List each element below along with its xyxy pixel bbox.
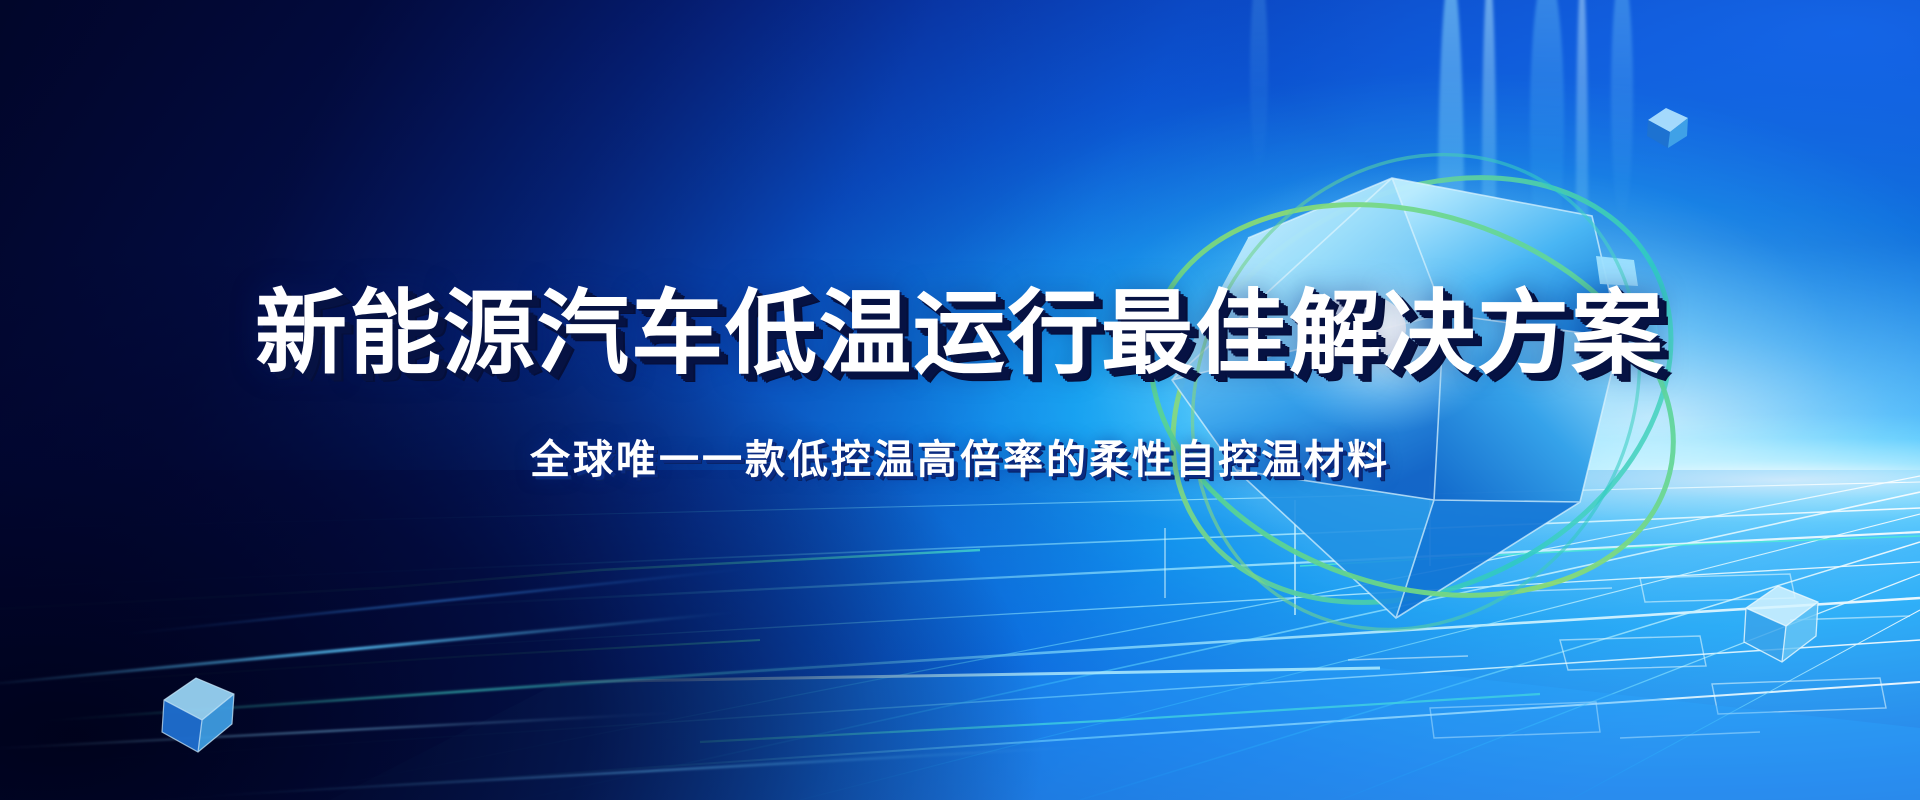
hero-banner: 新能源汽车低温运行最佳解决方案 全球唯一一款低控温高倍率的柔性自控温材料 <box>0 0 1920 800</box>
crystal-orbit-assembly <box>1060 70 1800 710</box>
crystal-cube <box>1172 178 1660 618</box>
floating-cube-bottom-left <box>150 660 246 756</box>
floating-cube-right <box>1730 570 1830 670</box>
floating-cube-top-right <box>1640 98 1696 154</box>
